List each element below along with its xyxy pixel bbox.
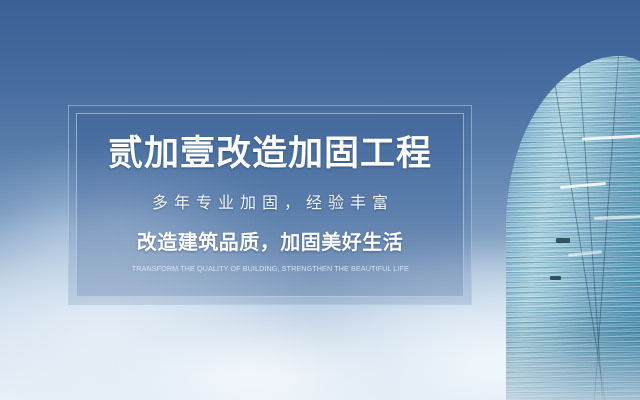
photo-grain-overlay — [0, 0, 640, 400]
hero-banner: 贰加壹改造加固工程 多年专业加固，经验丰富 改造建筑品质，加固美好生活 TRAN… — [0, 0, 640, 400]
